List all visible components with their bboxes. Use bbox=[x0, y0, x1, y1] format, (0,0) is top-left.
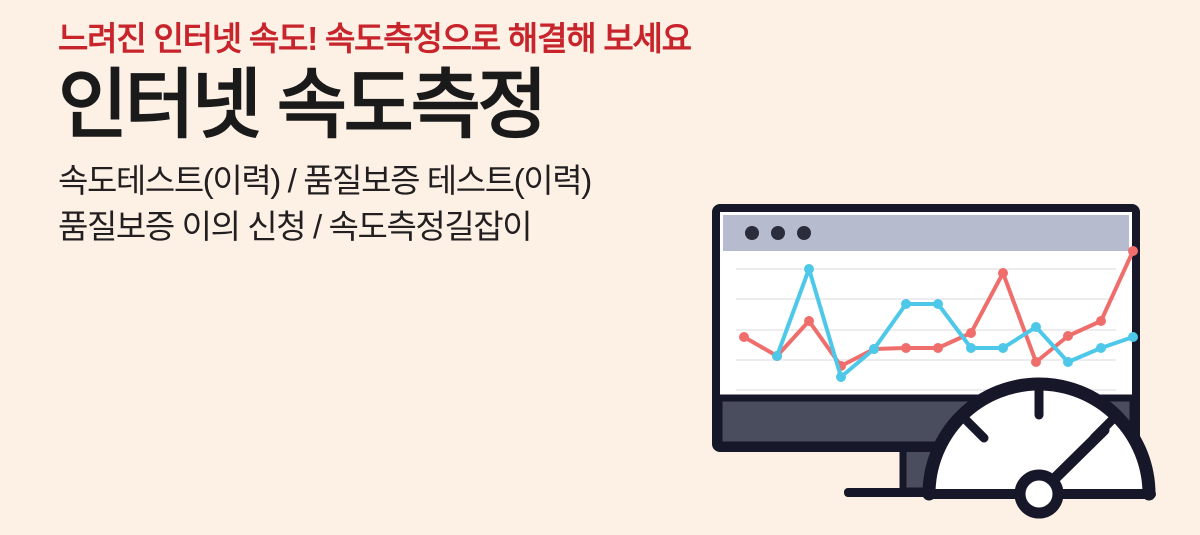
titlebar-dot-icon bbox=[771, 226, 785, 240]
titlebar-dot-icon bbox=[797, 226, 811, 240]
monitor-screen bbox=[723, 251, 1129, 398]
sub-line-quality-claim-links[interactable]: 품질보증 이의 신청 / 속도측정길잡이 bbox=[58, 204, 758, 250]
gauge-hub bbox=[1020, 475, 1058, 513]
sub-line-speed-test-links[interactable]: 속도테스트(이력) / 품질보증 테스트(이력) bbox=[58, 158, 758, 204]
illustration-monitor-gauge bbox=[706, 190, 1176, 520]
text-block: 느려진 인터넷 속도! 속도측정으로 해결해 보세요 인터넷 속도측정 속도테스… bbox=[58, 18, 758, 249]
internet-speed-test-banner: 느려진 인터넷 속도! 속도측정으로 해결해 보세요 인터넷 속도측정 속도테스… bbox=[0, 0, 1200, 535]
titlebar-dot-icon bbox=[745, 226, 759, 240]
page-title: 인터넷 속도측정 bbox=[58, 63, 758, 148]
eyebrow-headline: 느려진 인터넷 속도! 속도측정으로 해결해 보세요 bbox=[58, 18, 758, 59]
